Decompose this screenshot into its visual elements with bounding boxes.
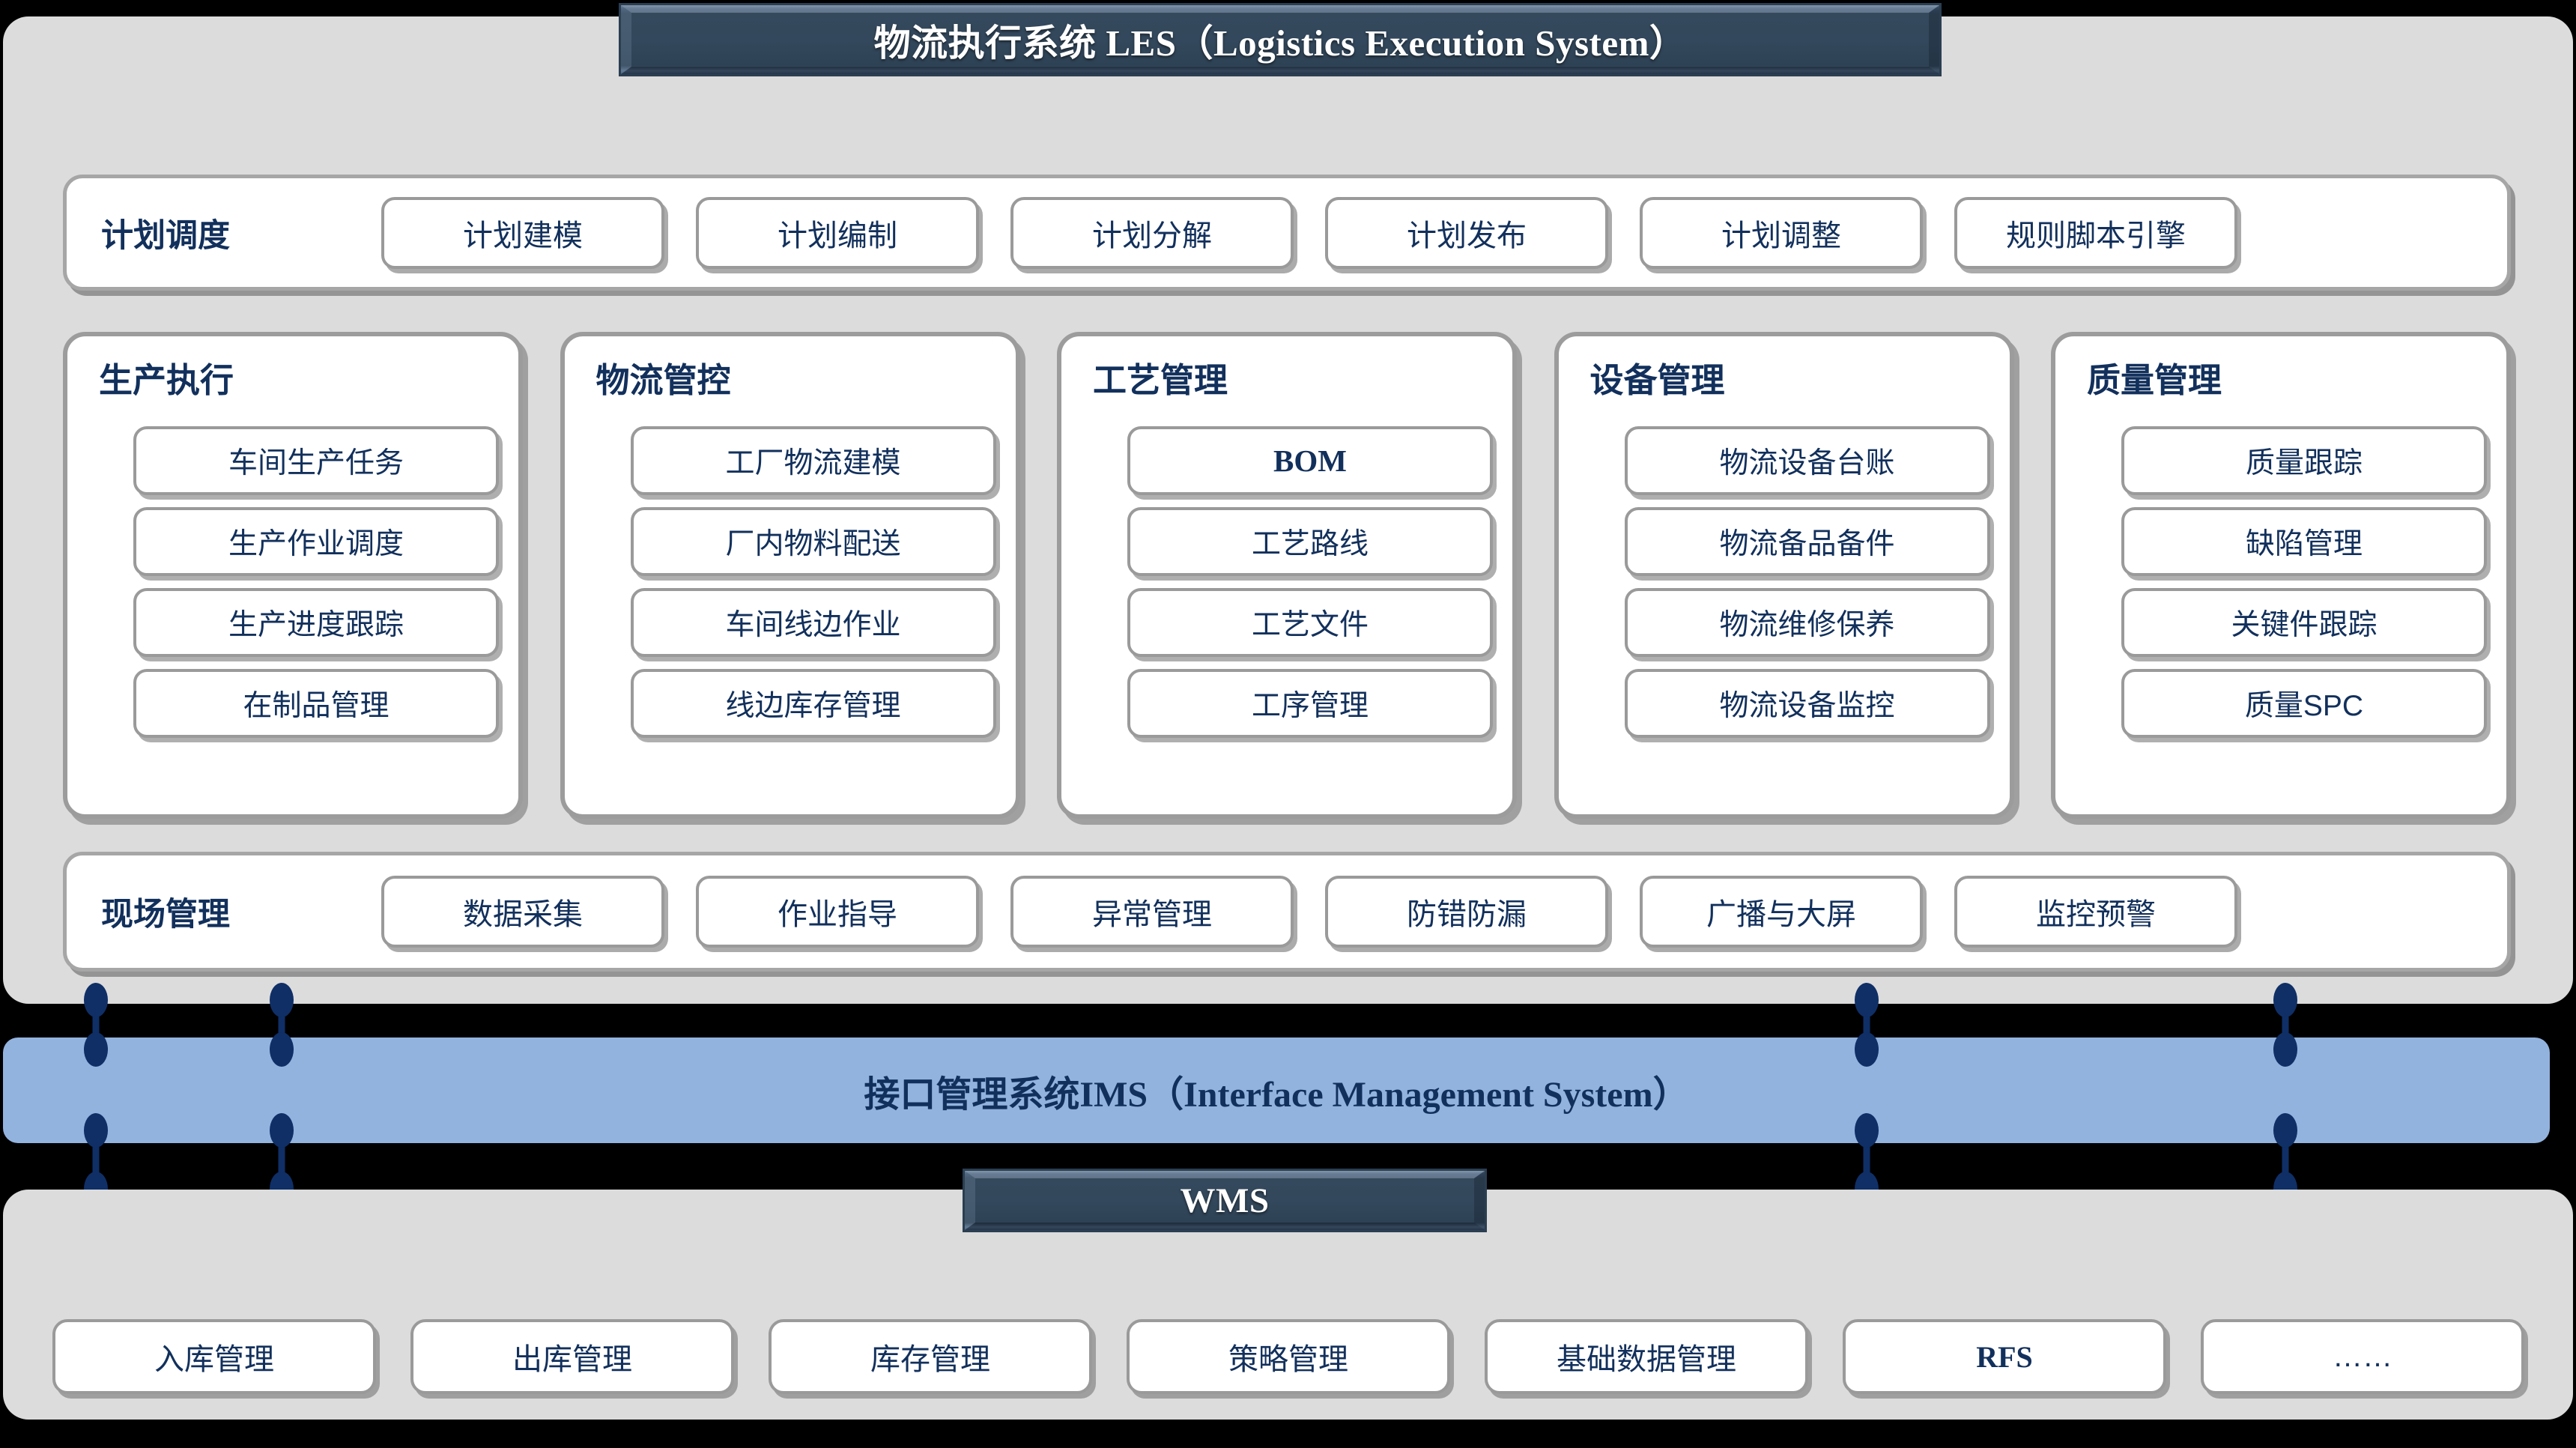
card-item-list: 质量跟踪 缺陷管理 关键件跟踪 质量SPC <box>2121 426 2487 738</box>
wms-chip[interactable]: …… <box>2201 1319 2524 1394</box>
connector-knob <box>2273 1113 2297 1148</box>
connector-knob <box>1855 1032 1879 1067</box>
card-item-list: 车间生产任务 生产作业调度 生产进度跟踪 在制品管理 <box>133 426 499 738</box>
field-management-row: 现场管理 数据采集 作业指导 异常管理 防错防漏 广播与大屏 监控预警 <box>63 852 2511 972</box>
module-card-equipment-management: 设备管理 物流设备台账 物流备品备件 物流维修保养 物流设备监控 <box>1554 332 2014 819</box>
card-item[interactable]: 在制品管理 <box>133 669 499 738</box>
card-item[interactable]: 车间生产任务 <box>133 426 499 495</box>
module-card-process-management: 工艺管理 BOM 工艺路线 工艺文件 工序管理 <box>1057 332 1517 819</box>
les-title-banner: 物流执行系统 LES（Logistics Execution System） <box>619 3 1942 76</box>
card-item[interactable]: 生产进度跟踪 <box>133 588 499 657</box>
connector-knob <box>270 983 294 1017</box>
card-item[interactable]: 工艺路线 <box>1127 507 1493 576</box>
ims-bar: 接口管理系统IMS（Interface Management System） <box>3 1037 2550 1143</box>
connector-knob <box>84 1113 108 1148</box>
wms-chip[interactable]: 入库管理 <box>52 1319 376 1394</box>
les-title-text: 物流执行系统 LES（Logistics Execution System） <box>874 13 1687 67</box>
module-card-logistics-control: 物流管控 工厂物流建模 厂内物料配送 车间线边作业 线边库存管理 <box>560 332 1020 819</box>
card-item[interactable]: 线边库存管理 <box>631 669 996 738</box>
field-management-chip-list: 数据采集 作业指导 异常管理 防错防漏 广播与大屏 监控预警 <box>381 876 2477 948</box>
connector-knob <box>270 1032 294 1067</box>
field-management-chip[interactable]: 作业指导 <box>696 876 979 948</box>
connector-knob <box>84 1032 108 1067</box>
card-item[interactable]: 缺陷管理 <box>2121 507 2487 576</box>
field-management-chip[interactable]: 防错防漏 <box>1325 876 1608 948</box>
planning-chip[interactable]: 计划建模 <box>381 197 664 269</box>
card-item[interactable]: 质量跟踪 <box>2121 426 2487 495</box>
planning-chip[interactable]: 计划调整 <box>1640 197 1923 269</box>
field-management-row-label: 现场管理 <box>101 888 230 935</box>
field-management-chip[interactable]: 广播与大屏 <box>1640 876 1923 948</box>
connector-knob <box>1855 983 1879 1017</box>
connector-les-to-ims <box>1855 987 1879 1062</box>
connector-knob <box>1855 1113 1879 1148</box>
connector-knob <box>2273 1032 2297 1067</box>
module-card-row: 生产执行 车间生产任务 生产作业调度 生产进度跟踪 在制品管理 物流管控 工厂物… <box>63 332 2511 819</box>
connector-les-to-ims <box>270 987 294 1062</box>
wms-module-row: 入库管理 出库管理 库存管理 策略管理 基础数据管理 RFS …… <box>52 1315 2524 1398</box>
planning-chip[interactable]: 规则脚本引擎 <box>1954 197 2237 269</box>
ims-label: 接口管理系统IMS（Interface Management System） <box>864 1064 1688 1117</box>
field-management-chip[interactable]: 数据采集 <box>381 876 664 948</box>
card-item-list: 工厂物流建模 厂内物料配送 车间线边作业 线边库存管理 <box>631 426 996 738</box>
card-item[interactable]: 车间线边作业 <box>631 588 996 657</box>
connector-knob <box>2273 983 2297 1017</box>
card-item[interactable]: 工艺文件 <box>1127 588 1493 657</box>
wms-chip[interactable]: 策略管理 <box>1127 1319 1450 1394</box>
card-item[interactable]: 厂内物料配送 <box>631 507 996 576</box>
planning-row-label: 计划调度 <box>101 210 230 256</box>
card-title: 质量管理 <box>2087 353 2222 402</box>
card-title: 工艺管理 <box>1093 353 1228 402</box>
card-item[interactable]: 关键件跟踪 <box>2121 588 2487 657</box>
planning-chip-list: 计划建模 计划编制 计划分解 计划发布 计划调整 规则脚本引擎 <box>381 197 2477 269</box>
card-item[interactable]: 生产作业调度 <box>133 507 499 576</box>
planning-chip[interactable]: 计划发布 <box>1325 197 1608 269</box>
wms-title-text: WMS <box>1181 1181 1270 1221</box>
planning-chip[interactable]: 计划编制 <box>696 197 979 269</box>
card-item[interactable]: 物流设备台账 <box>1625 426 1990 495</box>
card-item[interactable]: 工序管理 <box>1127 669 1493 738</box>
card-item[interactable]: 物流维修保养 <box>1625 588 1990 657</box>
card-title: 物流管控 <box>596 353 731 402</box>
wms-chip[interactable]: 基础数据管理 <box>1485 1319 1808 1394</box>
card-item-list: 物流设备台账 物流备品备件 物流维修保养 物流设备监控 <box>1625 426 1990 738</box>
field-management-chip[interactable]: 监控预警 <box>1954 876 2237 948</box>
card-title: 设备管理 <box>1590 353 1725 402</box>
module-card-quality-management: 质量管理 质量跟踪 缺陷管理 关键件跟踪 质量SPC <box>2051 332 2511 819</box>
card-item[interactable]: 工厂物流建模 <box>631 426 996 495</box>
field-management-chip[interactable]: 异常管理 <box>1010 876 1294 948</box>
card-item[interactable]: BOM <box>1127 426 1493 495</box>
planning-chip[interactable]: 计划分解 <box>1010 197 1294 269</box>
wms-chip[interactable]: RFS <box>1843 1319 2166 1394</box>
connector-les-to-ims <box>84 987 108 1062</box>
card-title: 生产执行 <box>99 353 234 402</box>
connector-knob <box>84 983 108 1017</box>
card-item-list: BOM 工艺路线 工艺文件 工序管理 <box>1127 426 1493 738</box>
card-item[interactable]: 物流备品备件 <box>1625 507 1990 576</box>
wms-chip[interactable]: 出库管理 <box>410 1319 734 1394</box>
connector-les-to-ims <box>2273 987 2297 1062</box>
wms-chip[interactable]: 库存管理 <box>769 1319 1092 1394</box>
card-item[interactable]: 物流设备监控 <box>1625 669 1990 738</box>
wms-title-banner: WMS <box>963 1169 1487 1232</box>
planning-row: 计划调度 计划建模 计划编制 计划分解 计划发布 计划调整 规则脚本引擎 <box>63 175 2511 291</box>
module-card-production-execution: 生产执行 车间生产任务 生产作业调度 生产进度跟踪 在制品管理 <box>63 332 523 819</box>
connector-knob <box>270 1113 294 1148</box>
card-item[interactable]: 质量SPC <box>2121 669 2487 738</box>
